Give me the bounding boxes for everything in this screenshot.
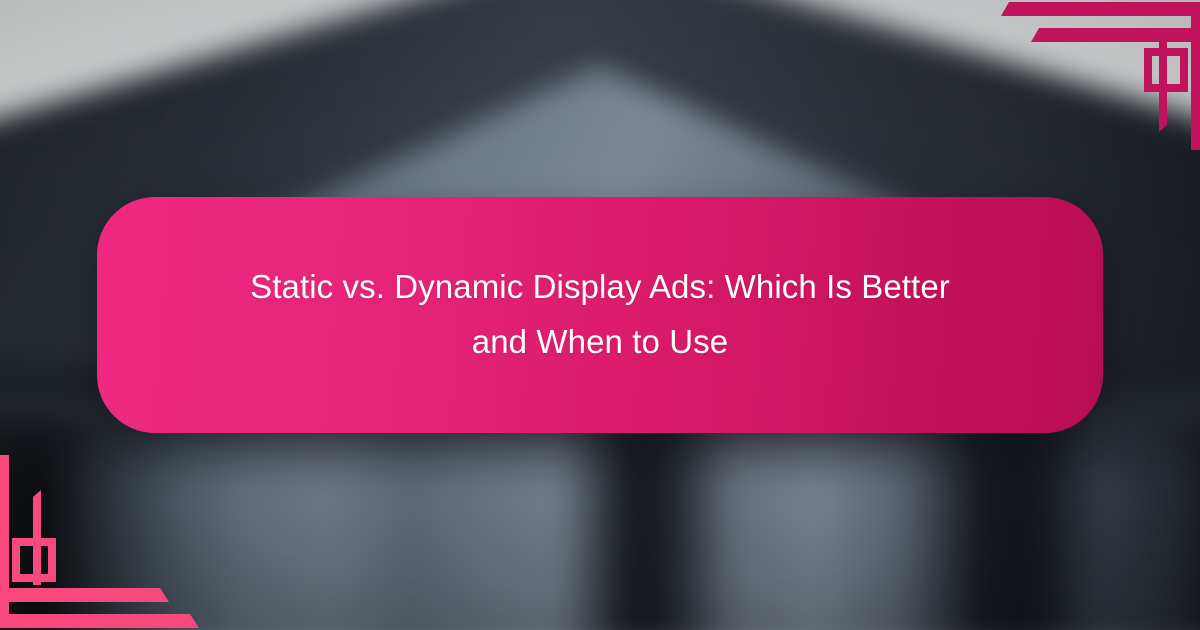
ornament-bar-long-icon	[1001, 2, 1200, 16]
ornament-edge-bar-icon	[0, 455, 9, 628]
ornament-edge-bar-icon	[1191, 2, 1200, 150]
ornament-bar-long-icon	[0, 614, 199, 628]
ornament-stem-icon	[33, 490, 41, 585]
ornament-bar-short-icon	[0, 588, 169, 602]
title-card: Static vs. Dynamic Display Ads: Which Is…	[97, 197, 1103, 433]
corner-ornament-bottom-left	[0, 455, 205, 630]
ornament-bar-short-icon	[1031, 28, 1200, 42]
page-title: Static vs. Dynamic Display Ads: Which Is…	[250, 260, 950, 370]
corner-ornament-top-right	[995, 0, 1200, 150]
ornament-stem-icon	[1159, 42, 1167, 132]
share-card-canvas: Static vs. Dynamic Display Ads: Which Is…	[0, 0, 1200, 630]
